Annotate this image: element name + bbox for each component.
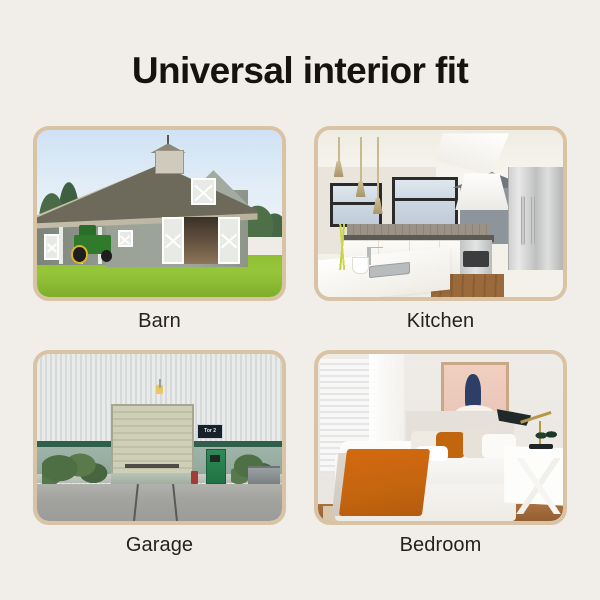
barn-open-doorway [184, 217, 218, 264]
bedroom-card-frame[interactable] [314, 350, 567, 525]
card-label-kitchen: Kitchen [407, 310, 474, 333]
pendant-light-3 [377, 137, 379, 200]
fridge-handle-right [531, 196, 535, 246]
lean-to-post-1 [59, 227, 63, 264]
potted-plant [534, 427, 559, 444]
feature-card-barn[interactable]: Barn [33, 126, 286, 333]
tractor-rear-wheel [71, 245, 88, 263]
feature-card-garage[interactable]: Tor 2 Garage [33, 350, 286, 557]
barn-window-quatrefoil [118, 230, 133, 247]
side-table-legs [514, 458, 563, 515]
garage-photo: Tor 2 [37, 354, 282, 521]
pendant-light-2 [360, 137, 362, 184]
window-right [392, 177, 458, 227]
stove-range [460, 240, 492, 277]
barn-lean-door [44, 234, 59, 261]
product-feature-panel: Universal interior fit [0, 0, 600, 600]
roll-up-door-bottom [111, 473, 194, 485]
feature-card-kitchen[interactable]: Kitchen [314, 126, 567, 333]
kitchen-card-frame[interactable] [314, 126, 567, 301]
door-label-strip [125, 464, 179, 468]
window-mullion-h [333, 202, 378, 205]
window-left [330, 183, 381, 226]
bedroom-photo [318, 354, 563, 521]
personnel-door [206, 449, 226, 484]
garage-card-frame[interactable]: Tor 2 [33, 350, 286, 525]
page-title: Universal interior fit [0, 50, 600, 92]
barn-door-left [162, 217, 184, 264]
fridge-handle-left [521, 196, 525, 246]
barn-hay-door-upper [191, 178, 216, 205]
feature-card-grid: Barn [33, 126, 567, 557]
wall-lamp-icon [156, 379, 163, 394]
cupola [155, 150, 184, 174]
bush-left [42, 444, 108, 487]
standpipe [191, 471, 197, 484]
asphalt-apron [37, 484, 282, 521]
pendant-light-1 [338, 137, 340, 164]
refrigerator [508, 167, 563, 271]
barn-door-right [218, 217, 240, 264]
barn-card-frame[interactable] [33, 126, 286, 301]
card-label-barn: Barn [138, 310, 181, 333]
oven-window [463, 251, 488, 268]
tractor-front-wheel [101, 250, 112, 262]
card-label-garage: Garage [126, 534, 193, 557]
door-number-sign: Tor 2 [197, 424, 222, 439]
desk-lamp-base [529, 444, 554, 449]
barn-photo [37, 130, 282, 297]
vase [352, 257, 369, 274]
tile-backsplash [347, 224, 489, 236]
window-mullion-h [395, 198, 455, 201]
card-label-bedroom: Bedroom [400, 534, 482, 557]
kitchen-photo [318, 130, 563, 297]
rust-throw-blanket [338, 449, 429, 516]
waste-container [248, 466, 280, 486]
feature-card-bedroom[interactable]: Bedroom [314, 350, 567, 557]
